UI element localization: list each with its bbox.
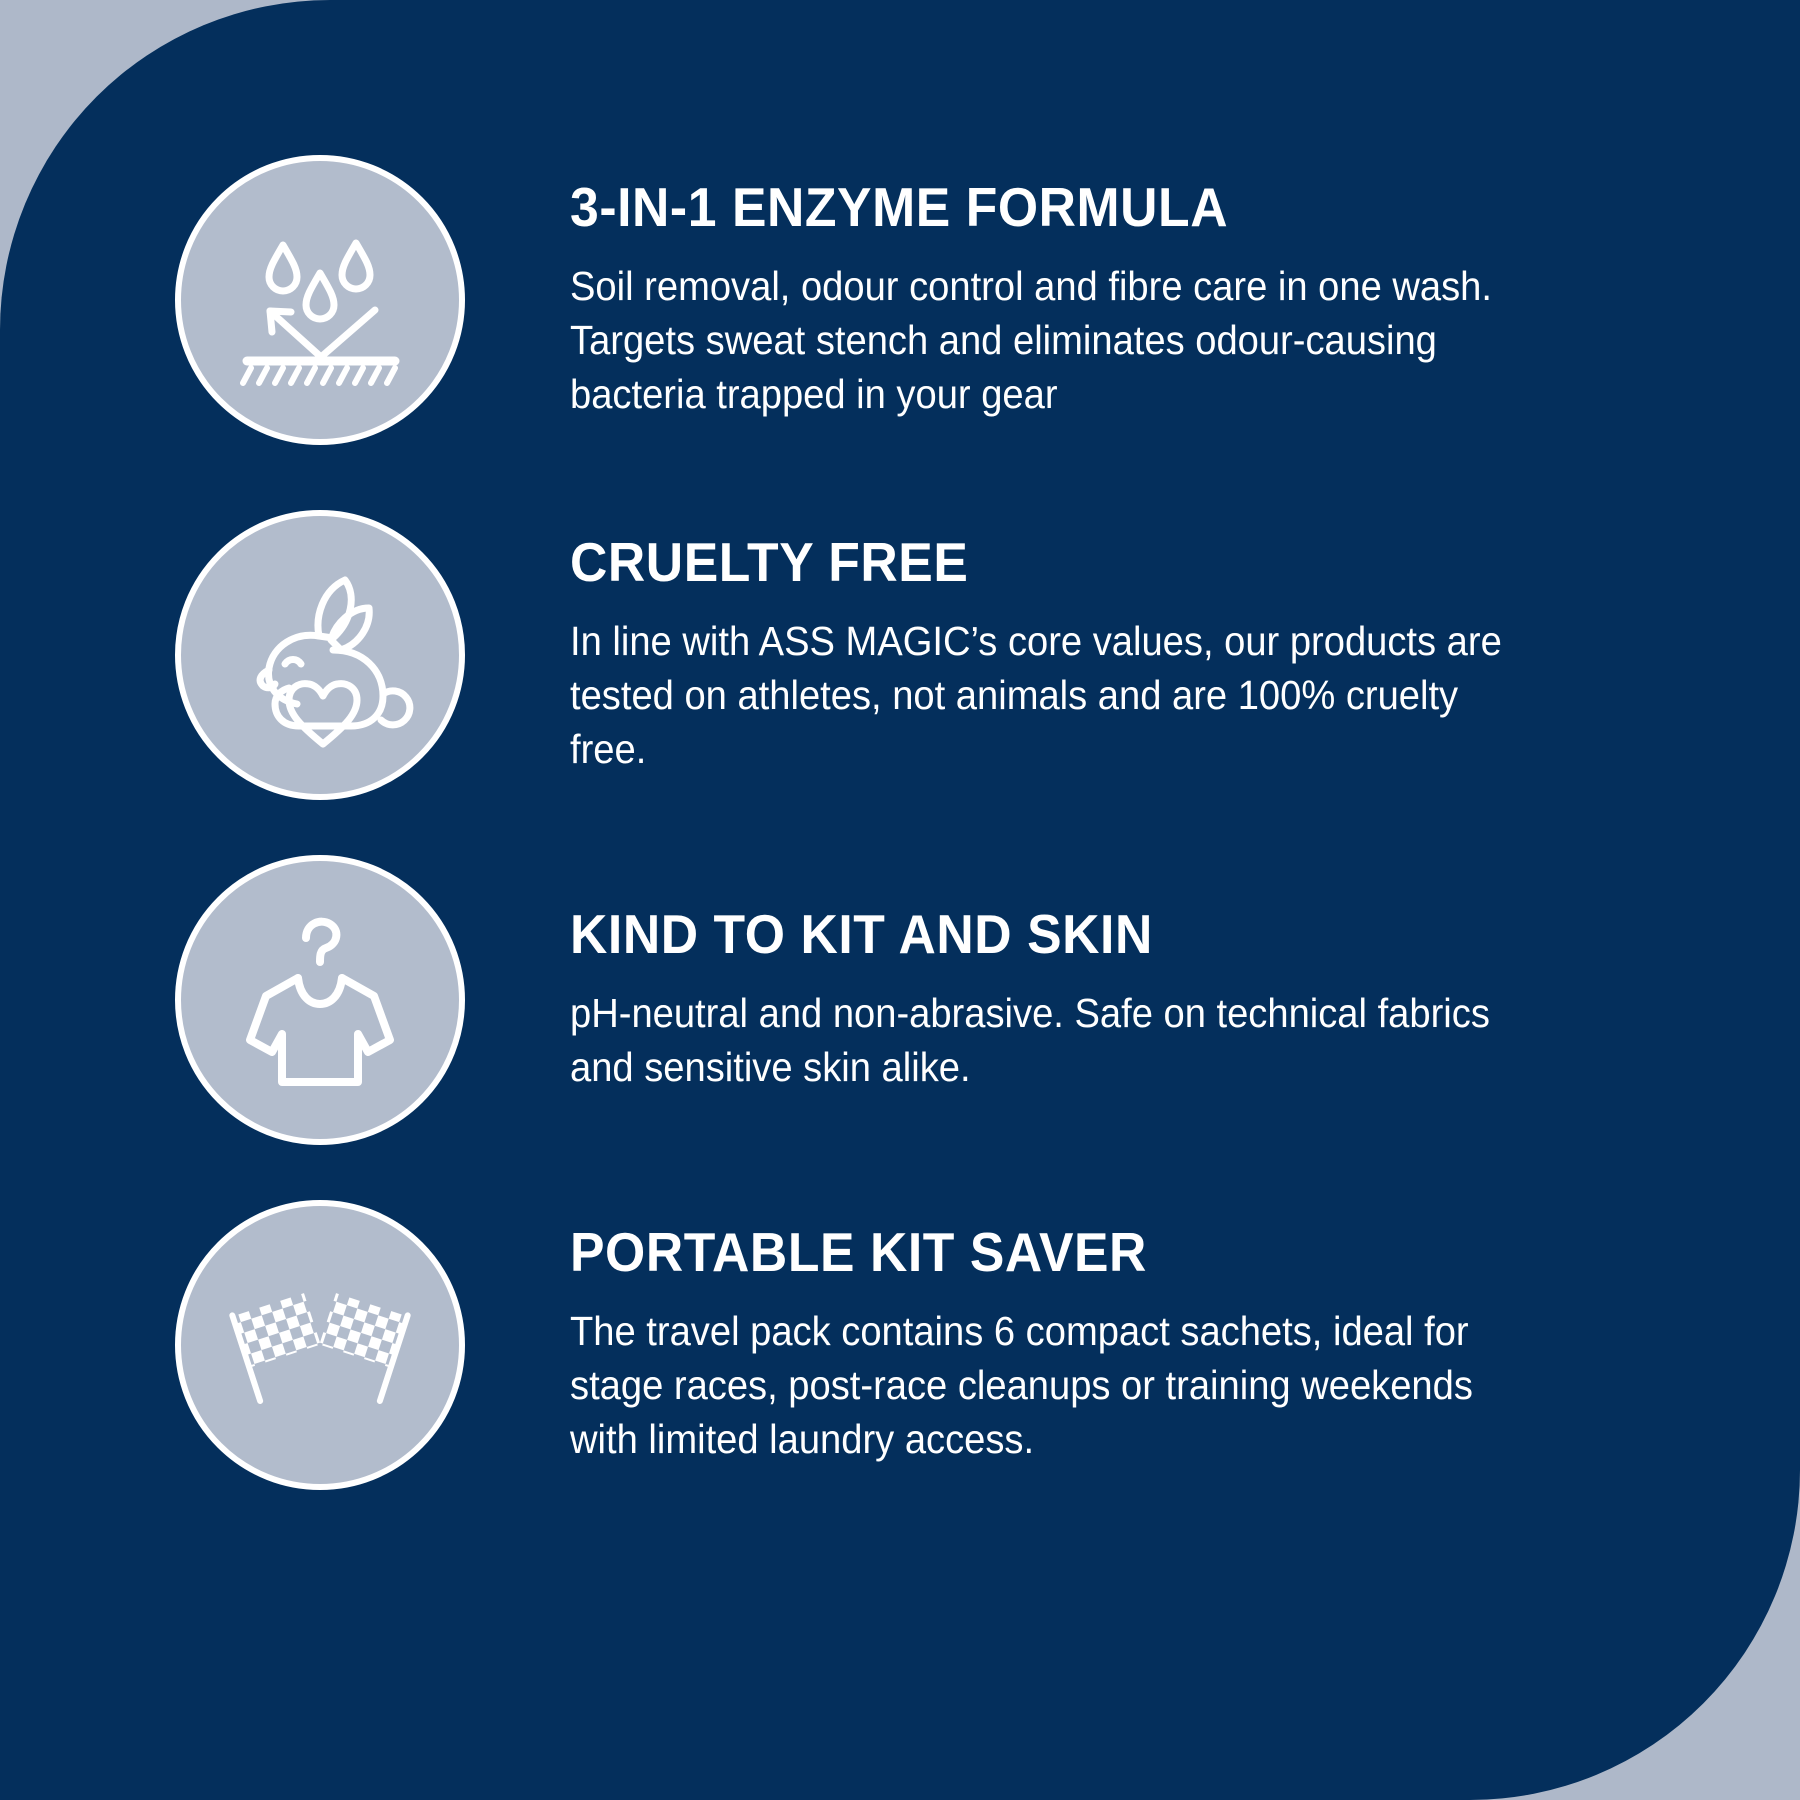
feature-text-block: CRUELTY FREE In line with ASS MAGIC’s co… [465,534,1595,776]
feature-row: KIND TO KIT AND SKIN pH-neutral and non-… [175,855,1595,1145]
feature-body: In line with ASS MAGIC’s core values, ou… [570,614,1514,776]
feature-text-block: PORTABLE KIT SAVER The travel pack conta… [465,1224,1595,1466]
feature-body: The travel pack contains 6 compact sache… [570,1304,1514,1466]
infographic-canvas: 3-IN-1 ENZYME FORMULA Soil removal, odou… [0,0,1800,1800]
feature-title: PORTABLE KIT SAVER [570,1224,1524,1282]
feature-title: CRUELTY FREE [570,534,1524,592]
feature-title: 3-IN-1 ENZYME FORMULA [570,179,1524,237]
feature-list: 3-IN-1 ENZYME FORMULA Soil removal, odou… [0,0,1800,1800]
feature-row: CRUELTY FREE In line with ASS MAGIC’s co… [175,510,1595,800]
tshirt-on-hanger-icon [175,855,465,1145]
feature-row: PORTABLE KIT SAVER The travel pack conta… [175,1200,1595,1490]
feature-text-block: 3-IN-1 ENZYME FORMULA Soil removal, odou… [465,179,1595,421]
checkered-racing-flags-icon [175,1200,465,1490]
feature-title: KIND TO KIT AND SKIN [570,906,1524,964]
feature-text-block: KIND TO KIT AND SKIN pH-neutral and non-… [465,906,1595,1094]
feature-body: pH-neutral and non-abrasive. Safe on tec… [570,986,1514,1094]
feature-row: 3-IN-1 ENZYME FORMULA Soil removal, odou… [175,155,1595,445]
rabbit-heart-cruelty-free-icon [175,510,465,800]
water-repellent-fabric-icon [175,155,465,445]
feature-body: Soil removal, odour control and fibre ca… [570,259,1514,421]
